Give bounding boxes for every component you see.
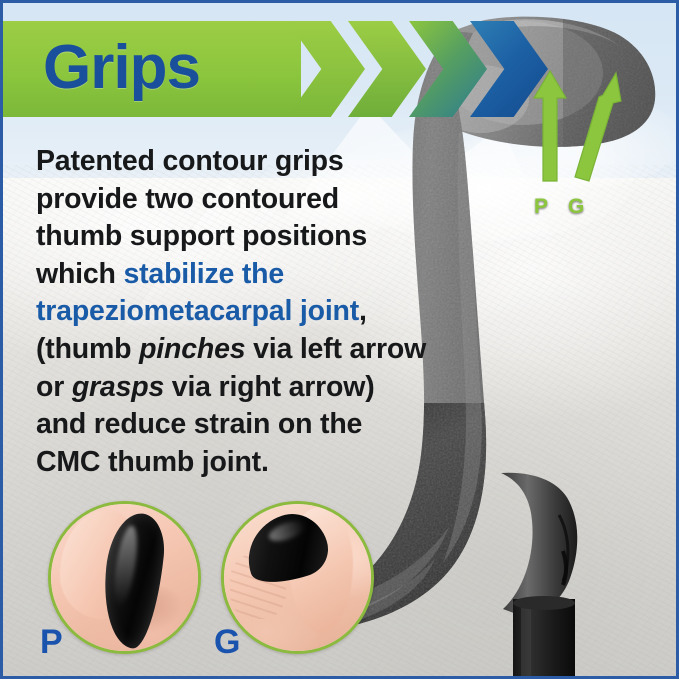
copy-line-5-highlight: trapeziometacarpal joint (36, 295, 359, 327)
copy-line-7: or grasps via right arrow) (36, 369, 476, 407)
copy-line-6-emphasis: pinches (139, 333, 245, 365)
cloud-3 (473, 93, 676, 188)
copy-line-7-emphasis: grasps (72, 371, 164, 403)
copy-line-9: CMC thumb joint. (36, 444, 476, 482)
copy-line-4-highlight: stabilize the (123, 258, 284, 290)
copy-line-8: and reduce strain on the (36, 406, 476, 444)
copy-line-4: which stabilize the (36, 256, 476, 294)
arrow-label-g: G (568, 196, 584, 217)
copy-line-3: thumb support positions (36, 218, 476, 256)
inset-label-g: G (214, 625, 240, 659)
inset-photo-pinch (48, 501, 201, 654)
copy-line-6-b: via left arrow (245, 333, 426, 365)
copy-line-1: Patented contour grips (36, 143, 476, 181)
product-feature-card: P G Grips Patented contour grips provide… (0, 0, 679, 679)
copy-line-5: trapeziometacarpal joint, (36, 293, 476, 331)
copy-line-6: (thumb pinches via left arrow (36, 331, 476, 369)
copy-line-5-plain: , (359, 295, 367, 327)
inset-p-image (51, 504, 198, 651)
copy-line-7-a: or (36, 371, 72, 403)
copy-line-6-a: (thumb (36, 333, 139, 365)
inset-g-image (224, 504, 371, 651)
inset-label-p: P (40, 625, 63, 659)
inset-photo-grasp (221, 501, 374, 654)
feature-description: Patented contour grips provide two conto… (36, 143, 476, 481)
copy-line-4-plain: which (36, 258, 123, 290)
arrow-label-p: P (534, 196, 548, 217)
copy-line-2: provide two contoured (36, 181, 476, 219)
copy-line-7-b: via right arrow) (164, 371, 374, 403)
